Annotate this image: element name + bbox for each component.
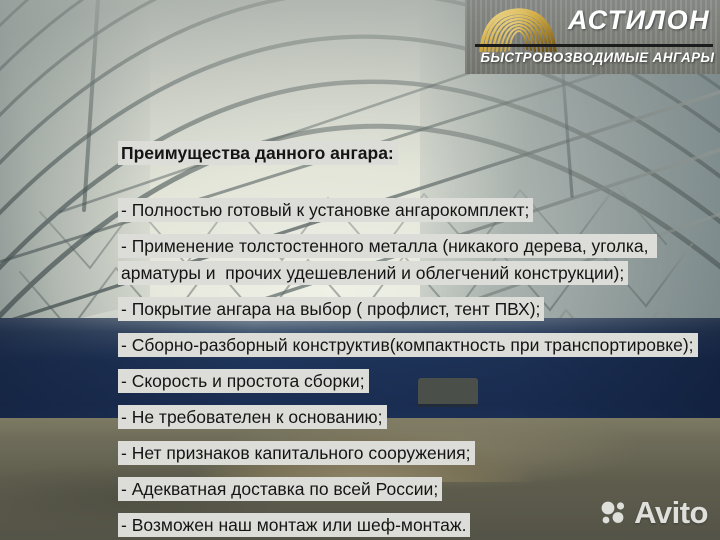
bullet-6-text: - Не требователен к основанию; xyxy=(118,405,387,429)
bullet-5-text: - Скорость и простота сборки; xyxy=(118,369,369,393)
bullet-3: - Покрытие ангара на выбор ( профлист, т… xyxy=(118,296,718,323)
astilon-logo-panel: АСТИЛОН БЫСТРОВОЗВОДИМЫЕ АНГАРЫ xyxy=(465,0,720,74)
spacer xyxy=(118,167,718,197)
bullet-8-text: - Адекватная доставка по всей России; xyxy=(118,477,442,501)
bullet-4: - Сборно-разборный конструктив(компактно… xyxy=(118,332,718,359)
bullet-2: - Применение толстостенного металла (ник… xyxy=(118,233,718,287)
advantages-text-block: Преимущества данного ангара: - Полностью… xyxy=(118,140,718,539)
spacer xyxy=(118,287,718,296)
spacer xyxy=(118,224,718,233)
spacer xyxy=(118,431,718,440)
spacer xyxy=(118,359,718,368)
avito-watermark: Avito xyxy=(601,497,708,528)
logo-divider xyxy=(475,44,713,47)
spacer xyxy=(118,323,718,332)
bullet-6: - Не требователен к основанию; xyxy=(118,404,718,431)
spacer xyxy=(118,467,718,476)
brand-tagline: БЫСТРОВОЗВОДИМЫЕ АНГАРЫ xyxy=(475,50,720,65)
bullet-1: - Полностью готовый к установке ангароко… xyxy=(118,197,718,224)
bullet-7: - Нет признаков капитального сооружения; xyxy=(118,440,718,467)
bullet-5: - Скорость и простота сборки; xyxy=(118,368,718,395)
brand-name: АСТИЛОН xyxy=(568,5,710,36)
advertisement-image: АСТИЛОН БЫСТРОВОЗВОДИМЫЕ АНГАРЫ Преимуще… xyxy=(0,0,720,540)
bullet-3-text: - Покрытие ангара на выбор ( профлист, т… xyxy=(118,297,544,321)
advantages-heading-text: Преимущества данного ангара: xyxy=(118,141,398,165)
bullet-1-text: - Полностью готовый к установке ангароко… xyxy=(118,198,533,222)
advantages-heading: Преимущества данного ангара: xyxy=(118,140,718,167)
spacer xyxy=(118,395,718,404)
bullet-4-text: - Сборно-разборный конструктив(компактно… xyxy=(118,333,698,357)
bullet-9-text: - Возможен наш монтаж или шеф-монтаж. xyxy=(118,513,470,537)
bullet-2-text: - Применение толстостенного металла (ник… xyxy=(118,234,657,285)
avito-wordmark: Avito xyxy=(634,497,708,528)
avito-dots-icon xyxy=(601,501,627,525)
bullet-7-text: - Нет признаков капитального сооружения; xyxy=(118,441,475,465)
